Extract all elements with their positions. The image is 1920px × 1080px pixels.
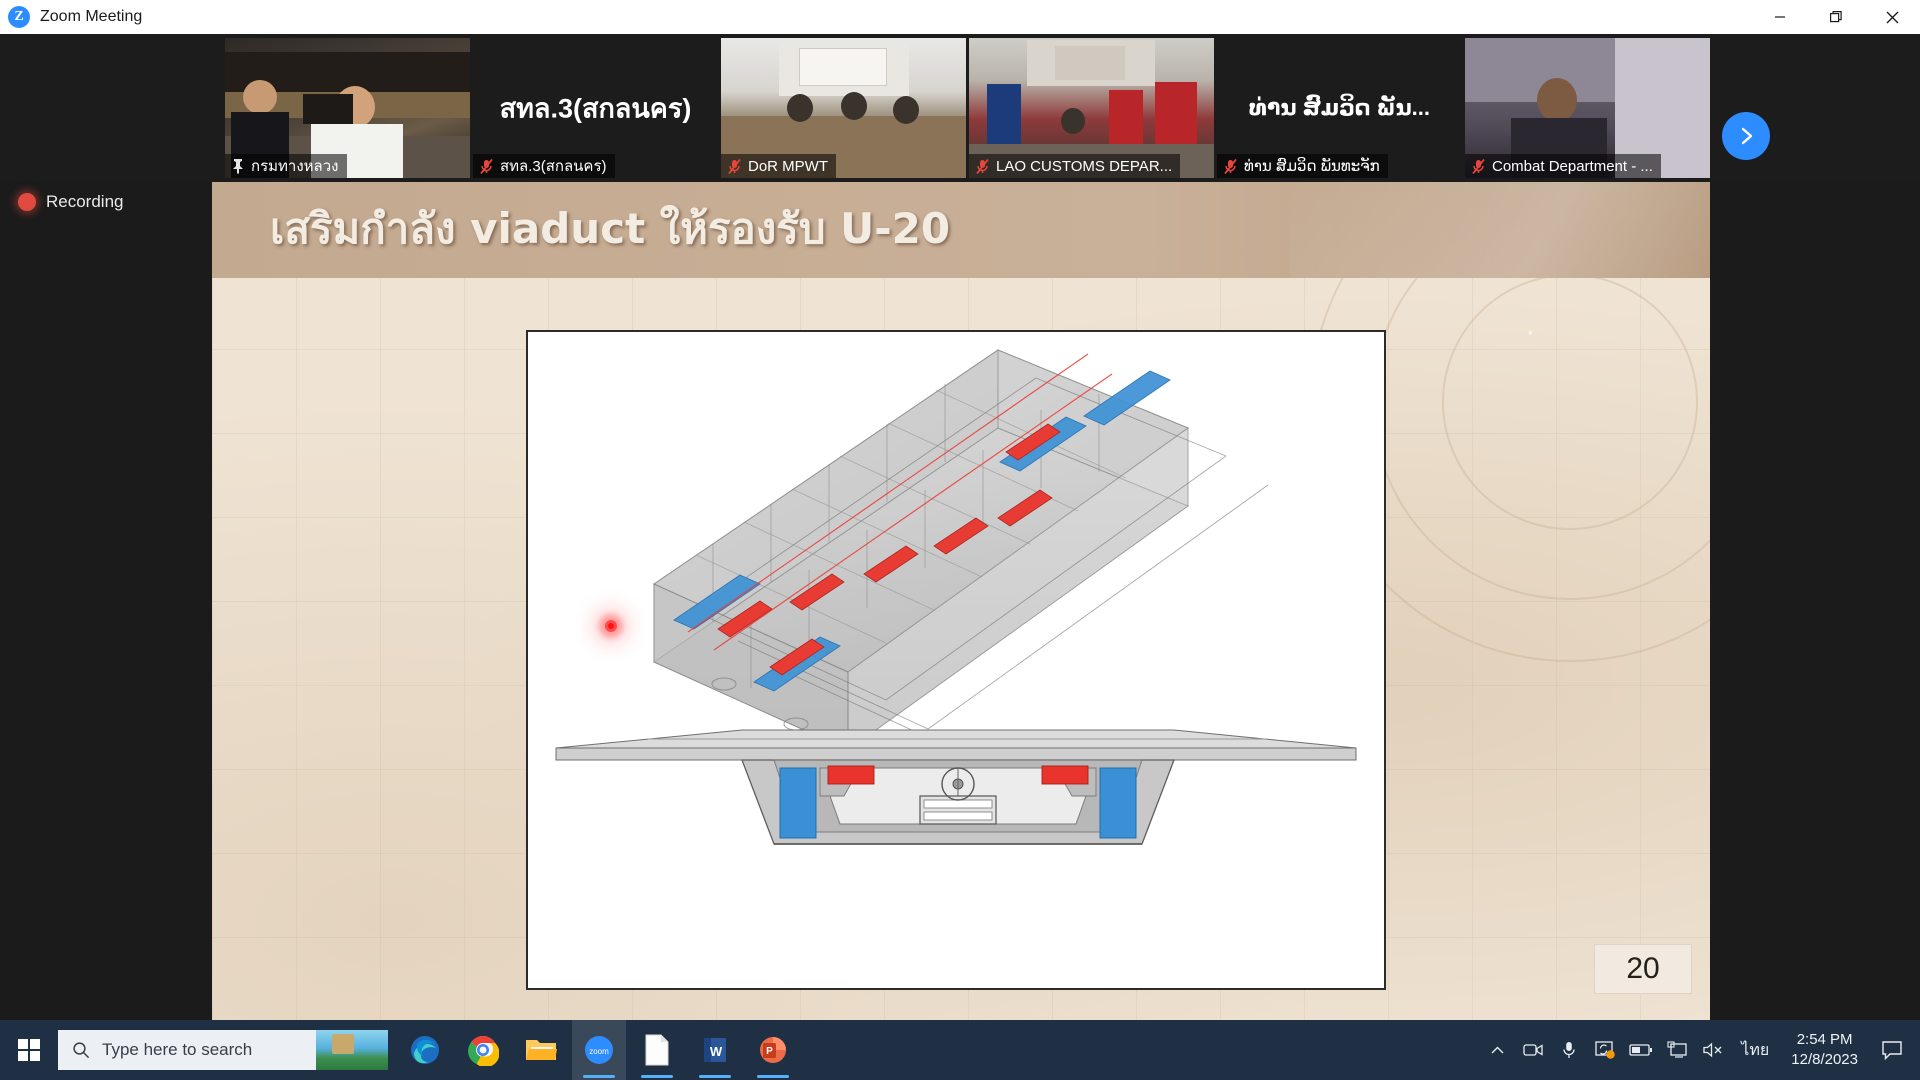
microphone-muted-icon — [1471, 158, 1486, 175]
zoom-logo-icon: Z — [8, 6, 30, 28]
taskbar-app-document[interactable] — [630, 1020, 684, 1080]
clock-date: 12/8/2023 — [1791, 1050, 1858, 1070]
participant-name-badge: DoR MPWT — [721, 154, 836, 178]
search-spotlight-image — [316, 1030, 388, 1070]
laser-pointer-icon — [605, 620, 617, 632]
video-feed: กรมทางหลวง — [225, 38, 470, 178]
recording-dot-icon — [18, 193, 36, 211]
microphone-icon[interactable] — [1551, 1020, 1587, 1080]
language-indicator[interactable]: ไทย — [1731, 1038, 1779, 1063]
clock[interactable]: 2:54 PM 12/8/2023 — [1779, 1030, 1870, 1071]
participant-tile[interactable]: Combat Department - ... — [1465, 38, 1710, 178]
taskbar-app-chrome[interactable] — [456, 1020, 510, 1080]
participant-name: DoR MPWT — [748, 158, 828, 175]
search-placeholder: Type here to search — [102, 1040, 252, 1060]
taskbar-app-powerpoint[interactable]: P — [746, 1020, 800, 1080]
search-icon — [72, 1041, 90, 1059]
participant-name: ທ່ານ ສົມວິດ ພັນທະຈັກ — [1244, 157, 1380, 175]
next-participants-arrow-icon[interactable] — [1722, 112, 1770, 160]
app-running-indicator — [641, 1075, 673, 1078]
participant-tile[interactable]: สทล.3(สกลนคร) สทล.3(สกลนคร) — [473, 38, 718, 178]
notification-icon[interactable] — [1870, 1020, 1914, 1080]
window-controls — [1752, 0, 1920, 34]
participant-name-badge: กรมทางหลวง — [225, 154, 347, 178]
display-icon[interactable] — [1659, 1020, 1695, 1080]
participant-name: สทล.3(สกลนคร) — [500, 154, 607, 178]
participant-filmstrip: กรมทางหลวง สทล.3(สกลนคร) สทล.3(สกลนคร) — [0, 34, 1920, 182]
video-feed: LAO CUSTOMS DEPAR... — [969, 38, 1214, 178]
slide-title: เสริมกำลัง viaduct ให้รองรับ U-20 — [270, 196, 950, 262]
app-running-indicator — [699, 1075, 731, 1078]
slide-figure-canvas — [526, 330, 1386, 990]
taskbar-search-input[interactable]: Type here to search — [58, 1030, 388, 1070]
app-running-indicator — [757, 1075, 789, 1078]
chrome-icon — [467, 1034, 499, 1066]
participant-tile[interactable]: กรมทางหลวง — [225, 38, 470, 178]
svg-text:zoom: zoom — [589, 1047, 609, 1056]
video-feed-placeholder: ທ່ານ ສົມວິດ ພັນ... ທ່ານ ສົມວິດ ພັນທະຈັກ — [1217, 38, 1462, 178]
minimize-icon[interactable] — [1752, 0, 1808, 34]
svg-text:P: P — [766, 1046, 773, 1057]
microphone-muted-icon — [1223, 158, 1238, 175]
camera-icon[interactable] — [1515, 1020, 1551, 1080]
microphone-muted-icon — [727, 158, 742, 175]
participant-name-badge: LAO CUSTOMS DEPAR... — [969, 154, 1180, 178]
powerpoint-icon: P — [758, 1035, 788, 1065]
taskbar-app-file-explorer[interactable] — [514, 1020, 568, 1080]
recording-label: Recording — [46, 192, 124, 212]
screen-share-icon[interactable] — [1587, 1020, 1623, 1080]
taskbar-app-zoom[interactable]: zoom — [572, 1020, 626, 1080]
windows-start-icon[interactable] — [0, 1020, 58, 1080]
taskbar-app-edge[interactable] — [398, 1020, 452, 1080]
microphone-muted-icon — [479, 158, 494, 175]
video-feed: DoR MPWT — [721, 38, 966, 178]
file-explorer-icon — [525, 1036, 557, 1064]
video-feed: Combat Department - ... — [1465, 38, 1710, 178]
pin-icon — [231, 158, 245, 174]
clock-time: 2:54 PM — [1797, 1030, 1853, 1050]
participant-display-name: สทล.3(สกลนคร) — [500, 87, 692, 130]
taskbar-app-word[interactable]: W — [688, 1020, 742, 1080]
slide-page-number: 20 — [1594, 944, 1692, 994]
window-titlebar: Z Zoom Meeting — [0, 0, 1920, 34]
participant-name: LAO CUSTOMS DEPAR... — [996, 158, 1172, 175]
shared-screen-slide[interactable]: เสริมกำลัง viaduct ให้รองรับ U-20 — [212, 182, 1710, 1020]
participant-display-name: ທ່ານ ສົມວິດ ພັນ... — [1249, 95, 1430, 121]
participant-name-badge: Combat Department - ... — [1465, 154, 1661, 178]
participant-tiles: กรมทางหลวง สทล.3(สกลนคร) สทล.3(สกลนคร) — [225, 38, 1710, 178]
svg-text:W: W — [710, 1044, 723, 1059]
close-icon[interactable] — [1864, 0, 1920, 34]
participant-tile[interactable]: LAO CUSTOMS DEPAR... — [969, 38, 1214, 178]
video-feed-placeholder: สทล.3(สกลนคร) สทล.3(สกลนคร) — [473, 38, 718, 178]
recording-indicator[interactable]: Recording — [18, 192, 124, 212]
battery-icon[interactable] — [1623, 1020, 1659, 1080]
edge-icon — [409, 1034, 441, 1066]
participant-name: กรมทางหลวง — [251, 154, 339, 178]
chevron-up-icon[interactable] — [1479, 1020, 1515, 1080]
participant-tile[interactable]: DoR MPWT — [721, 38, 966, 178]
participant-name-badge: ທ່ານ ສົມວິດ ພັນທະຈັກ — [1217, 154, 1388, 178]
viaduct-3d-drawing — [528, 332, 1384, 988]
restore-icon[interactable] — [1808, 0, 1864, 34]
windows-taskbar: Type here to search — [0, 1020, 1920, 1080]
zoom-icon: zoom — [583, 1034, 615, 1066]
participant-name-badge: สทล.3(สกลนคร) — [473, 154, 615, 178]
window-title: Zoom Meeting — [40, 8, 142, 26]
taskbar-app-buttons: zoom W P — [398, 1020, 800, 1080]
app-running-indicator — [583, 1075, 615, 1078]
system-tray: ไทย 2:54 PM 12/8/2023 — [1479, 1020, 1920, 1080]
document-icon — [644, 1034, 670, 1066]
microphone-muted-icon — [975, 158, 990, 175]
participant-name: Combat Department - ... — [1492, 158, 1653, 175]
participant-tile[interactable]: ທ່ານ ສົມວິດ ພັນ... ທ່ານ ສົມວິດ ພັນທະຈັກ — [1217, 38, 1462, 178]
word-icon: W — [700, 1035, 730, 1065]
volume-muted-icon[interactable] — [1695, 1020, 1731, 1080]
